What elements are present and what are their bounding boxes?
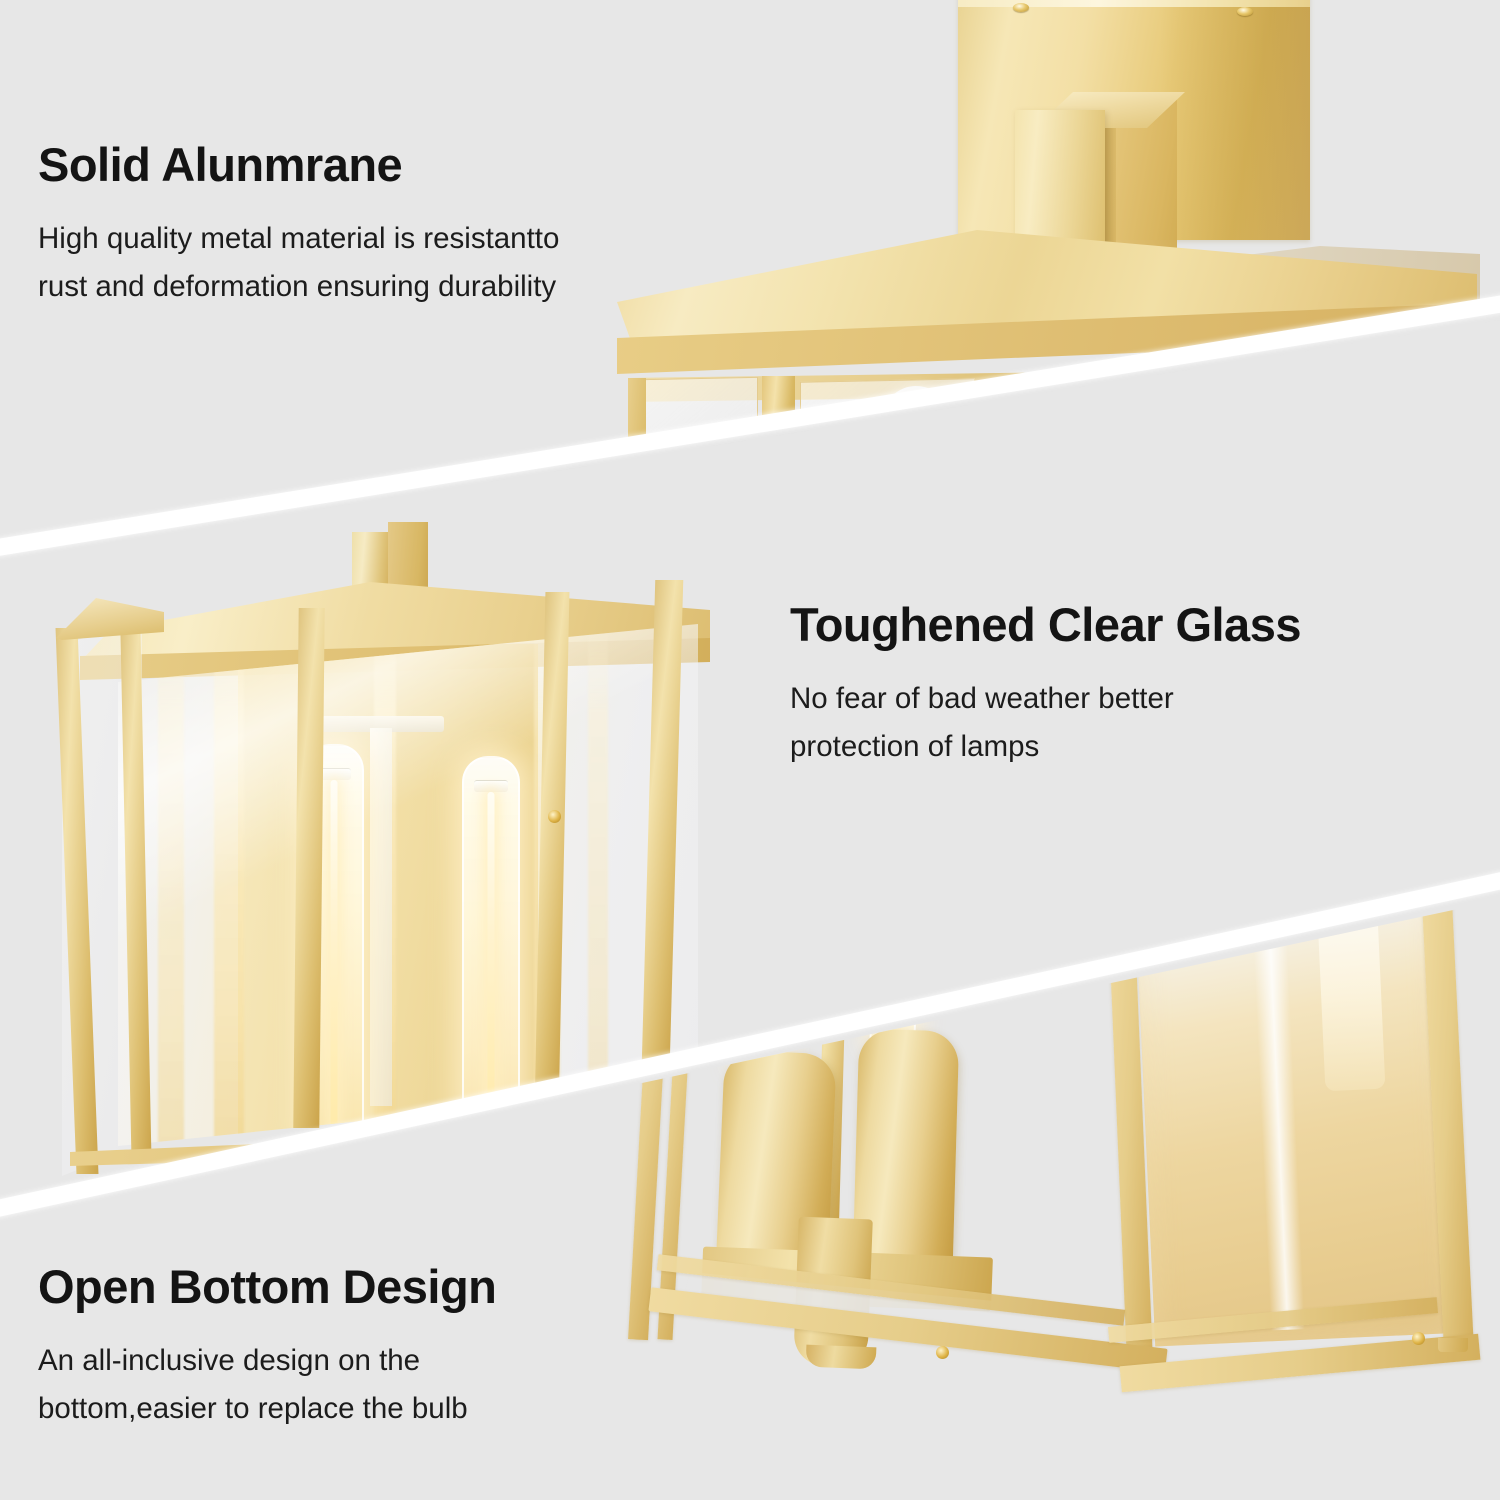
text-block-open-bottom-design: Open Bottom Design An all-inclusive desi…: [38, 1262, 578, 1433]
feature-body-solid-aluminum: High quality metal material is resistant…: [38, 215, 568, 311]
mount-screw-right-icon: [1237, 7, 1253, 16]
tube-bulb-neck: [474, 780, 508, 792]
frame-post-screw-icon: [548, 810, 561, 823]
text-block-toughened-clear-glass: Toughened Clear Glass No fear of bad wea…: [790, 600, 1301, 771]
cross-bracket-collar: [806, 1345, 877, 1370]
mount-screw-left-icon: [1013, 3, 1029, 12]
text-block-solid-aluminum: Solid Alunmrane High quality metal mater…: [38, 140, 568, 311]
product-feature-infographic: Solid Alunmrane High quality metal mater…: [0, 0, 1500, 1500]
feature-title-toughened-clear-glass: Toughened Clear Glass: [790, 600, 1301, 649]
glow-column: [158, 616, 184, 1146]
feature-title-solid-aluminum: Solid Alunmrane: [38, 140, 568, 189]
backplate-shadow: [1160, 0, 1310, 240]
frame-post-middle: [293, 608, 324, 1128]
feature-body-open-bottom-design: An all-inclusive design on the bottom,ea…: [38, 1337, 578, 1433]
backplate-top-edge: [958, 0, 1310, 7]
cage-foot: [1438, 1338, 1468, 1352]
feature-title-open-bottom-design: Open Bottom Design: [38, 1262, 578, 1311]
frame-screw-icon: [1412, 1332, 1425, 1345]
tube-bulb-filament: [488, 792, 495, 1138]
feature-body-toughened-clear-glass: No fear of bad weather better protection…: [790, 675, 1290, 771]
frame-screw-icon: [936, 1346, 949, 1359]
glow-column: [214, 616, 244, 1146]
tube-bulb-filament: [331, 780, 338, 1136]
bulb-socket-stem: [370, 728, 392, 1106]
